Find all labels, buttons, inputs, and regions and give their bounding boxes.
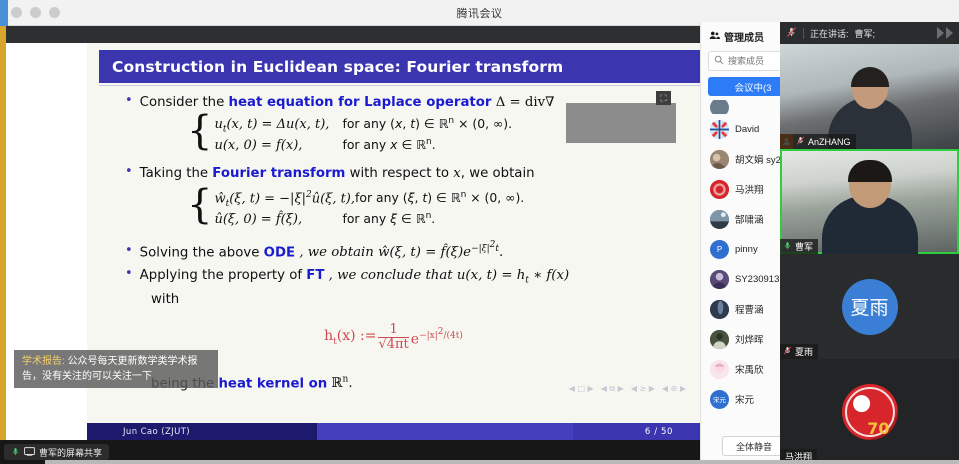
video-tile-label: 曹军: [780, 239, 818, 254]
monitor-icon: [24, 447, 35, 458]
equation-2-line-1-rhs: for any (ξ, t) ∈ ℝn × (0, ∞).: [355, 190, 524, 205]
avatar: [710, 300, 729, 319]
chat-toast-sender: 学术报告:: [22, 356, 65, 367]
bullet-5-text-after: ℝn.: [331, 376, 352, 391]
avatar-text: 夏雨: [850, 293, 888, 320]
bullet-2-keyword: Fourier transform: [212, 166, 345, 181]
bullet-5-keyword: heat kernel on: [218, 376, 327, 391]
heat-kernel-numerator: 1: [389, 323, 397, 337]
slide-footer: Jun Cao (ZJUT) 6 / 50: [87, 423, 700, 440]
screen-share-label: 曹军的屏幕共享: [39, 446, 102, 459]
avatar: [710, 330, 729, 349]
video-tile[interactable]: AnZHANG: [780, 44, 959, 149]
screen-share-taskbar-chip[interactable]: 曹军的屏幕共享: [4, 444, 109, 460]
logo-number: 70: [867, 419, 889, 438]
heat-kernel-fraction: 1 √4πt: [378, 323, 408, 353]
heat-kernel-exponential: e−|x|2/(4t): [411, 327, 463, 348]
bullet-marker: •: [125, 267, 133, 280]
slide-author: Jun Cao (ZJUT): [87, 427, 190, 437]
equation-2-line-2-rhs: for any ξ ∈ ℝn.: [342, 211, 435, 226]
avatar-initial: P: [717, 245, 722, 254]
participants-panel-title: 管理成员: [724, 29, 764, 44]
slide-footer-middle: [317, 423, 573, 440]
participant-name: 宋禹欣: [735, 362, 764, 376]
people-icon: [709, 30, 720, 44]
participant-name: pinny: [735, 244, 758, 255]
equation-system-2: { ŵt(ξ, t) = −|ξ|2û(ξ, t), for any (ξ, t…: [87, 190, 700, 227]
bullet-4-text-before: Applying the property of: [140, 268, 302, 283]
avatar: [710, 180, 729, 199]
nav-last-icon[interactable]: ◀ ⊕ ▶: [662, 384, 686, 394]
equation-2-line-2-lhs: û(ξ, 0) = f̂(ξ),: [214, 212, 342, 227]
redaction-overlay: [566, 103, 676, 143]
video-strip: 正在讲话: 曹军; AnZHANG: [780, 22, 959, 464]
participant-name: SY2309137: [735, 274, 785, 285]
person-hair: [848, 160, 892, 182]
participant-name: 刘烨晖: [735, 332, 764, 346]
bullet-4-continuation: with: [87, 288, 700, 307]
bullet-3-keyword: ODE: [264, 245, 295, 260]
avatar: [710, 150, 729, 169]
bullet-4-keyword: FT: [306, 268, 324, 283]
divider: [803, 28, 804, 39]
taskbar-strip: [45, 460, 959, 464]
avatar: [710, 360, 729, 379]
bullet-3-text-after: , we obtain ŵ(ξ, t) = f̂(ξ)e−|ξ|2t.: [299, 245, 503, 260]
bullet-1-text-after: Δ = div∇: [496, 95, 555, 110]
bullet-marker: •: [125, 94, 133, 107]
person-hair: [851, 67, 889, 87]
avatar: 夏雨: [842, 279, 898, 335]
equation-1-line-1-rhs: for any (x, t) ∈ ℝn × (0, ∞).: [342, 116, 512, 131]
bullet-2-text-before: Taking the: [140, 166, 208, 181]
participant-name: 宋元: [735, 392, 754, 406]
avatar: [710, 270, 729, 289]
shared-screen-area[interactable]: Construction in Euclidean space: Fourier…: [6, 43, 700, 440]
slide-page-number: 6 / 50: [645, 427, 700, 437]
chevrons-right-icon[interactable]: [937, 27, 953, 39]
mute-all-button[interactable]: 全体静音: [722, 436, 786, 456]
slide-footer-left: Jun Cao (ZJUT): [87, 423, 317, 440]
equation-2-line-2: û(ξ, 0) = f̂(ξ), for any ξ ∈ ℝn.: [214, 211, 524, 227]
bullet-marker: •: [125, 165, 133, 178]
bullet-3-text-before: Solving the above: [140, 245, 260, 260]
group-logo-icon: 70: [842, 384, 898, 440]
video-tile-name: 曹军: [795, 240, 813, 253]
heat-kernel-denominator: √4πt: [378, 338, 408, 353]
video-tile-label: 夏雨: [780, 344, 818, 359]
participant-name: David: [735, 124, 759, 135]
video-tile[interactable]: 曹军: [780, 149, 959, 254]
equation-1-line-1-lhs: ut(x, t) = Δu(x, t),: [214, 117, 342, 135]
avatar: P: [710, 240, 729, 259]
equation-2-line-1: ŵt(ξ, t) = −|ξ|2û(ξ, t), for any (ξ, t) …: [214, 190, 524, 209]
slide-bullet-4: • Applying the property of FT , we concl…: [87, 268, 700, 286]
bullet-4-text-after: , we conclude that u(x, t) = ht ∗ f(x): [329, 268, 570, 283]
left-brace: {: [187, 190, 212, 227]
slide-title: Construction in Euclidean space: Fourier…: [99, 58, 563, 76]
mic-off-icon: [783, 345, 792, 358]
slide-nav-icons[interactable]: ◀ □ ▶ ◀ ⧉ ▶ ◀ ≥ ▶ ◀ ⊕ ▶: [569, 384, 686, 394]
video-tile[interactable]: 夏雨 夏雨: [780, 254, 959, 359]
bullet-marker: •: [125, 244, 133, 257]
equation-1-line-1: ut(x, t) = Δu(x, t), for any (x, t) ∈ ℝn…: [214, 116, 512, 135]
bullet-2-text-after: with respect to x, we obtain: [350, 166, 535, 181]
slide-title-underline: [99, 85, 700, 86]
heat-kernel-lhs: ht(x) :=: [324, 328, 376, 347]
slide-footer-right: 6 / 50: [573, 423, 700, 440]
mic-icon: [783, 240, 792, 253]
speaking-name: 曹军;: [855, 27, 876, 40]
avatar: [710, 120, 729, 139]
avatar: [710, 100, 729, 114]
left-brace: {: [187, 116, 212, 153]
app-root: 腾讯会议 Construction in Euclidean space: Fo…: [0, 0, 959, 464]
mic-icon: [11, 446, 20, 459]
nav-prev-icon[interactable]: ◀ ⧉ ▶: [601, 384, 624, 394]
participant-name: 胡文娟 sy23: [735, 152, 786, 166]
video-tile-name: 夏雨: [795, 345, 813, 358]
nav-first-icon[interactable]: ◀ □ ▶: [569, 384, 594, 394]
nav-next-icon[interactable]: ◀ ≥ ▶: [631, 384, 655, 394]
search-icon: [714, 52, 724, 70]
mic-off-icon: [796, 135, 805, 148]
video-tile-label: AnZHANG: [780, 134, 856, 149]
mic-off-icon: [786, 26, 797, 40]
bullet-1-keyword: heat equation for Laplace operator: [229, 95, 492, 110]
equation-2-line-1-lhs: ŵt(ξ, t) = −|ξ|2û(ξ, t),: [214, 190, 355, 209]
avatar: [710, 210, 729, 229]
participant-name: 郜啸涵: [735, 212, 764, 226]
equation-1-line-2: u(x, 0) = f(x), for any x ∈ ℝn.: [214, 137, 512, 153]
slide-bullet-3: • Solving the above ODE , we obtain ŵ(ξ,…: [87, 240, 700, 260]
slide-title-bar: Construction in Euclidean space: Fourier…: [99, 50, 700, 83]
video-tile[interactable]: 70 马洪翔: [780, 359, 959, 464]
fullscreen-icon[interactable]: ⛶: [656, 91, 671, 105]
speaking-prefix: 正在讲话:: [810, 27, 849, 40]
participant-name: 马洪翔: [735, 182, 764, 196]
equation-1-line-2-rhs: for any x ∈ ℝn.: [342, 137, 435, 152]
heat-kernel-formula: ht(x) := 1 √4πt e−|x|2/(4t): [87, 323, 700, 353]
video-tile-name: AnZHANG: [808, 137, 851, 147]
participant-name: 程曹涵: [735, 302, 764, 316]
avatar-initial: 宋元: [713, 394, 726, 404]
window-title: 腾讯会议: [0, 5, 959, 21]
equation-1-line-2-lhs: u(x, 0) = f(x),: [214, 138, 342, 153]
chat-toast[interactable]: 学术报告: 公众号每天更新数学类学术报告，没有关注的可以关注一下: [14, 350, 218, 388]
slide-bullet-2: • Taking the Fourier transform with resp…: [87, 166, 700, 181]
speaking-indicator-bar: 正在讲话: 曹军;: [780, 22, 959, 44]
avatar: 宋元: [710, 390, 729, 409]
